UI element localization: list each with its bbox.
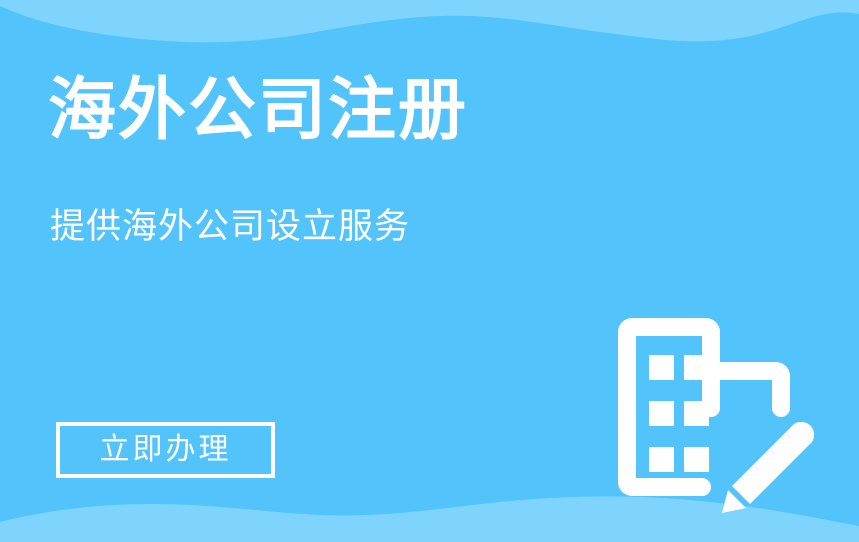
overseas-company-registration-banner: 海外公司注册 提供海外公司设立服务 立即办理 bbox=[0, 0, 859, 542]
page-subtitle: 提供海外公司设立服务 bbox=[50, 206, 410, 248]
building-with-pencil-icon bbox=[608, 300, 823, 515]
page-title: 海外公司注册 bbox=[48, 72, 468, 148]
apply-now-button[interactable]: 立即办理 bbox=[56, 422, 275, 478]
